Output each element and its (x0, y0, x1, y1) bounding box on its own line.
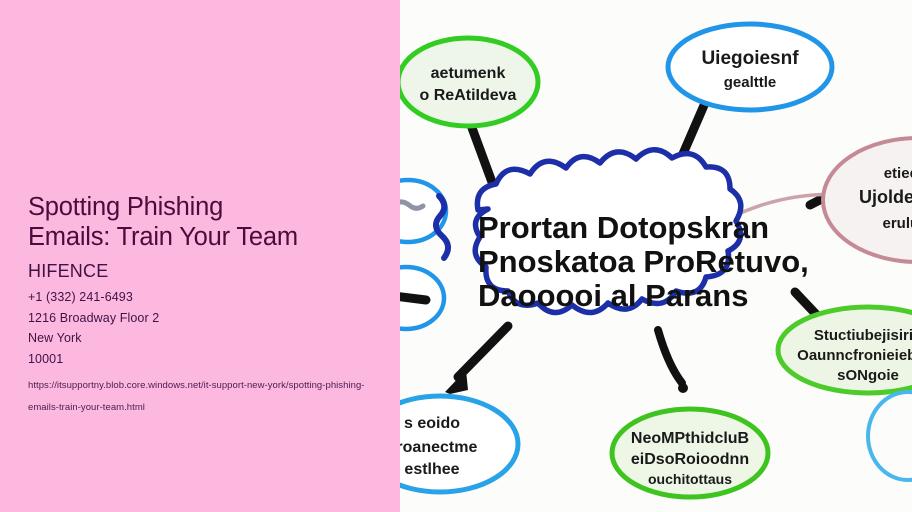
node-right-green: Stuctiubejisiriu Oaunncfronieiebten sONg… (778, 307, 912, 393)
node-left-lower-blue (400, 267, 444, 329)
node-text-line-3: erulue (882, 215, 912, 232)
article-info-panel: Spotting Phishing Emails: Train Your Tea… (0, 0, 400, 512)
central-text-line-1: Prortan Dotopskran (478, 210, 769, 245)
contact-city: New York (28, 328, 384, 349)
node-text-line-1: Stuctiubejisiriu (814, 327, 912, 344)
central-text-line-2: Pnoskatoa ProRetuvo, (478, 244, 809, 279)
node-text-line-1: aetumenk (431, 65, 506, 82)
node-text-line-1: NeoMPthidcluB (631, 430, 749, 447)
connector-to-bottom-center (658, 330, 682, 383)
connector-stub (400, 295, 426, 300)
node-text-line-2: eiDsoRoioodnn (631, 451, 749, 468)
node-text-line-2: nroanectme (400, 439, 477, 456)
central-node-cloud: Prortan Dotopskran Pnoskatoa ProRetuvo, … (475, 150, 809, 313)
node-text-line-1: Uiegoiesnf (701, 48, 799, 69)
contact-phone: +1 (332) 241-6493 (28, 287, 384, 308)
contact-zip: 10001 (28, 349, 384, 370)
node-text-line-2: gealttle (724, 74, 777, 91)
source-url-link[interactable]: https://itsupportny.blob.core.windows.ne… (28, 375, 368, 419)
node-text-line-3: sONgoie (837, 367, 899, 384)
node-bottom-center-green: NeoMPthidcluB eiDsoRoioodnn ouchitottaus (612, 409, 768, 497)
node-text-line-1: s eoido (404, 415, 460, 432)
node-bottom-left-blue: s eoido nroanectme estlhee (400, 396, 518, 492)
node-text-line-3: ouchitottaus (648, 471, 732, 487)
connector-to-bottom-left (458, 326, 508, 377)
contact-street: 1216 Broadway Floor 2 (28, 308, 384, 329)
node-text-line-2: o ReAtiIdeva (420, 87, 517, 104)
mindmap-svg: Prortan Dotopskran Pnoskatoa ProRetuvo, … (400, 0, 912, 512)
node-bottom-right-partial (868, 392, 912, 480)
node-text-line-2: Ujoldeigle (859, 187, 912, 207)
info-stack: Spotting Phishing Emails: Train Your Tea… (28, 192, 384, 419)
page-title: Spotting Phishing Emails: Train Your Tea… (28, 192, 384, 252)
node-text-line-2: Oaunncfronieiebten (797, 347, 912, 364)
node-text-line-1: etieee (884, 165, 912, 182)
node-right-rose: etieee Ujoldeigle erulue (823, 138, 912, 262)
central-text-line-3: Daooooi al Parans (478, 278, 748, 313)
node-text-line-3: estlhee (404, 461, 459, 478)
page-root: Spotting Phishing Emails: Train Your Tea… (0, 0, 912, 512)
node-top-left-green: aetumenk o ReAtiIdeva (400, 38, 538, 126)
node-top-center-blue: Uiegoiesnf gealttle (668, 24, 832, 110)
ellipse-outline (400, 38, 538, 126)
mindmap-illustration-panel: Prortan Dotopskran Pnoskatoa ProRetuvo, … (400, 0, 912, 512)
connector-endpoint-dot (678, 383, 688, 393)
brand-name: HIFENCE (28, 260, 384, 282)
